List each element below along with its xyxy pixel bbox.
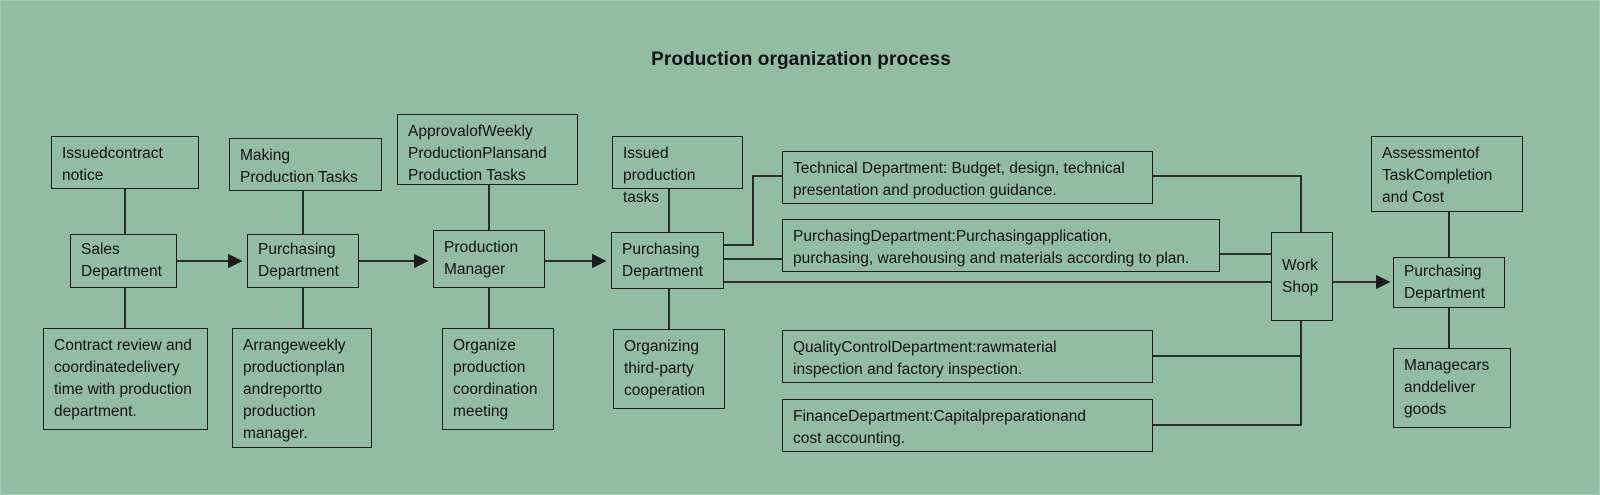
line-text: Technical Department: Budget, design, te… [793, 158, 1143, 180]
node-work-shop: Work Shop [1271, 232, 1333, 321]
line-text: ProductionPlansand [408, 143, 568, 165]
line-text: Production Tasks [240, 167, 372, 189]
line-text: notice [62, 165, 189, 187]
line-text: cooperation [624, 380, 715, 402]
line-text: Organize [453, 335, 544, 357]
node-purchasing-department-desc: PurchasingDepartment:Purchasingapplicati… [782, 219, 1220, 272]
line-text: Department [622, 261, 714, 283]
line-text: and Cost [1382, 187, 1513, 209]
line-text: Managecars [1404, 355, 1501, 377]
line-text: Purchasing [258, 239, 349, 261]
line-text: Issuedcontract [62, 143, 189, 165]
line-text: purchasing, warehousing and materials ac… [793, 248, 1210, 270]
line-text: productionplan [243, 357, 362, 379]
line-text: ApprovalofWeekly [408, 121, 568, 143]
line-text: Issued [623, 143, 733, 165]
line-text: Department [258, 261, 349, 283]
line-text: cost accounting. [793, 428, 1143, 450]
line-text: production tasks [623, 165, 733, 209]
node-contract-review: Contract review and coordinatedelivery t… [43, 328, 208, 430]
line-text: production [243, 401, 362, 423]
line-text: anddeliver [1404, 377, 1501, 399]
line-text: Department [81, 261, 167, 283]
node-assessment-task: Assessmentof TaskCompletion and Cost [1371, 136, 1523, 212]
line-text: coordinatedelivery [54, 357, 198, 379]
line-text: Making [240, 145, 372, 167]
line-text: Production [444, 237, 535, 259]
line-text: Purchasing [1404, 261, 1495, 283]
line-text: goods [1404, 399, 1501, 421]
node-organizing-third-party: Organizing third-party cooperation [613, 329, 725, 409]
line-text: Work [1282, 255, 1323, 277]
line-text: Sales [81, 239, 167, 261]
line-text: Manager [444, 259, 535, 281]
node-sales-department: Sales Department [70, 234, 177, 288]
line-text: Production Tasks [408, 165, 568, 187]
node-finance-department: FinanceDepartment:Capitalpreparationand … [782, 399, 1153, 452]
line-text: meeting [453, 401, 544, 423]
line-text: Department [1404, 283, 1495, 305]
node-making-production-tasks: Making Production Tasks [229, 138, 382, 191]
page-title: Production organization process [1, 49, 1600, 71]
node-technical-department: Technical Department: Budget, design, te… [782, 151, 1153, 204]
node-purchasing-department-3: Purchasing Department [1393, 257, 1505, 308]
node-issued-production-tasks: Issued production tasks [612, 136, 743, 189]
line-text: manager. [243, 423, 362, 445]
line-text: inspection and factory inspection. [793, 359, 1143, 381]
line-text: Arrangeweekly [243, 335, 362, 357]
line-text: Purchasing [622, 239, 714, 261]
node-organize-coordination-meeting: Organize production coordination meeting [442, 328, 554, 430]
line-text: QualityControlDepartment:rawmaterial [793, 337, 1143, 359]
line-text: presentation and production guidance. [793, 180, 1143, 202]
line-text: TaskCompletion [1382, 165, 1513, 187]
flowchart-canvas: Production organization process Issuedco… [0, 0, 1600, 495]
line-text: third-party [624, 358, 715, 380]
line-text: coordination [453, 379, 544, 401]
line-text: Organizing [624, 336, 715, 358]
node-purchasing-department-1: Purchasing Department [247, 234, 359, 288]
node-purchasing-department-2: Purchasing Department [611, 232, 724, 289]
line-text: Shop [1282, 277, 1323, 299]
node-approval-weekly-plans: ApprovalofWeekly ProductionPlansand Prod… [397, 114, 578, 185]
line-text: FinanceDepartment:Capitalpreparationand [793, 406, 1143, 428]
line-text: Assessmentof [1382, 143, 1513, 165]
line-text: department. [54, 401, 198, 423]
line-text: andreportto [243, 379, 362, 401]
node-issued-contract-notice: Issuedcontract notice [51, 136, 199, 189]
node-quality-control-department: QualityControlDepartment:rawmaterial ins… [782, 330, 1153, 383]
node-manage-cars: Managecars anddeliver goods [1393, 348, 1511, 428]
line-text: production [453, 357, 544, 379]
node-arrange-weekly-plan: Arrangeweekly productionplan andreportto… [232, 328, 372, 448]
node-production-manager: Production Manager [433, 230, 545, 288]
line-text: Contract review and [54, 335, 198, 357]
line-text: time with production [54, 379, 198, 401]
line-text: PurchasingDepartment:Purchasingapplicati… [793, 226, 1210, 248]
